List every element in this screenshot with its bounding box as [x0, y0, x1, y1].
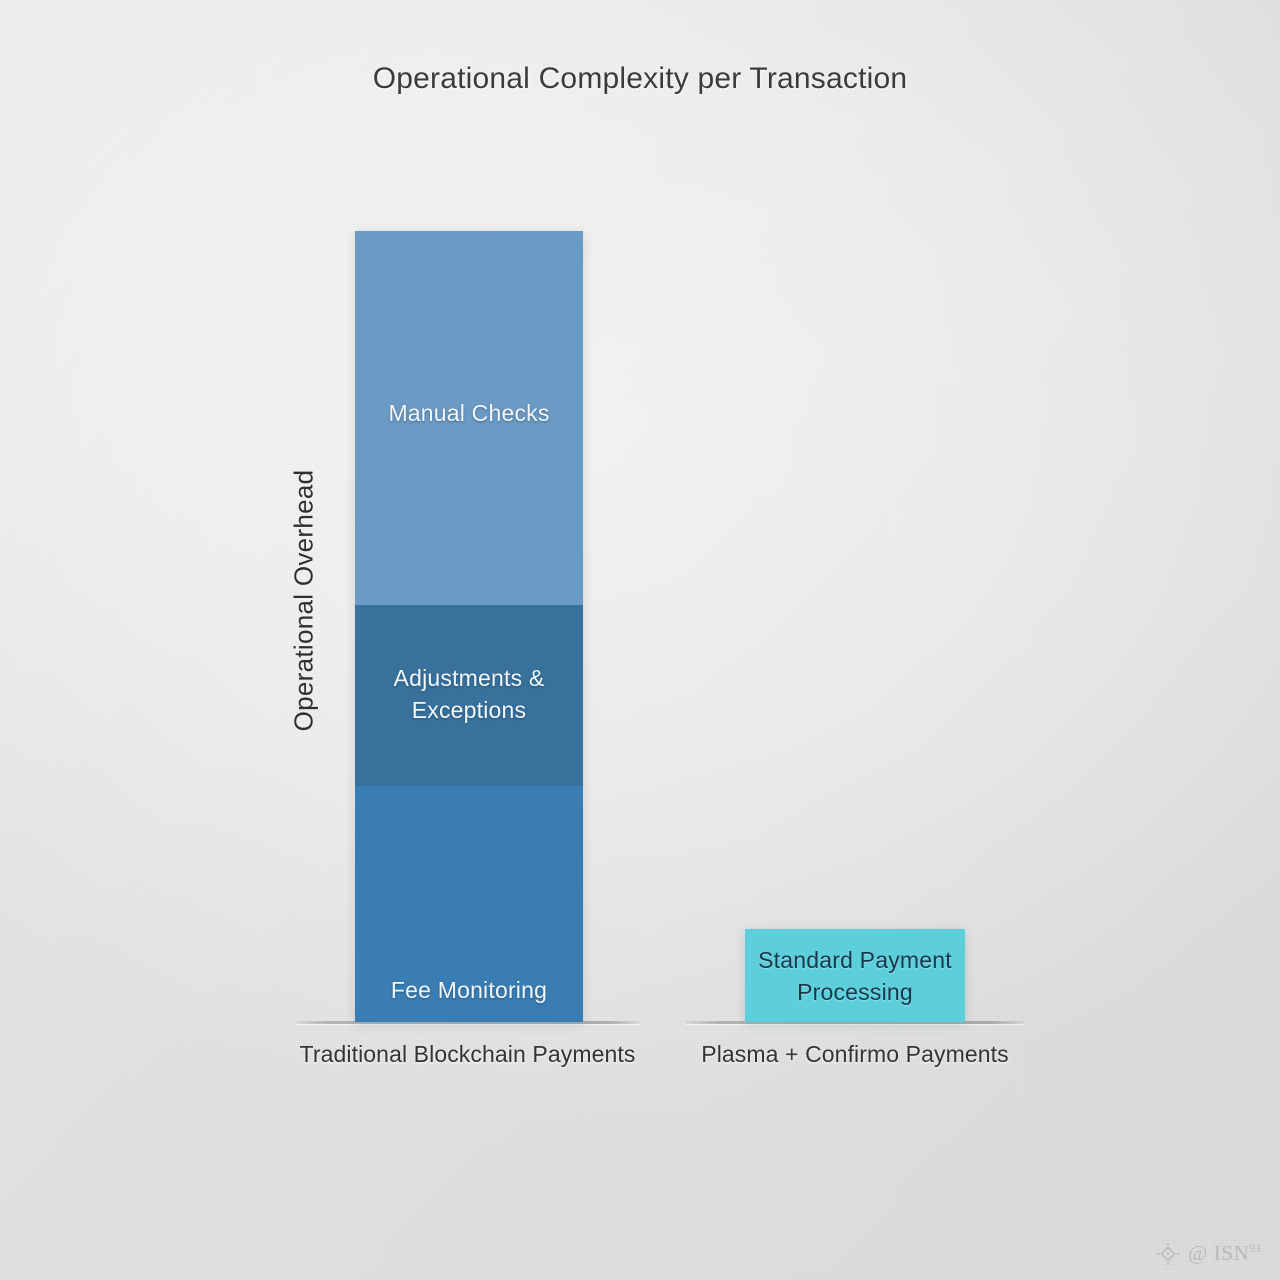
diamond-compass-icon	[1156, 1242, 1180, 1266]
bar-segment-label-fee-monitoring: Fee Monitoring	[383, 975, 555, 1006]
watermark: @ ISN91	[1156, 1241, 1262, 1266]
x-axis-tick-label-traditional-blockchain-payments: Traditional Blockchain Payments	[295, 1041, 640, 1068]
watermark-text: @ ISN91	[1188, 1241, 1262, 1266]
bar-segment-label-line-1: Adjustments &	[394, 663, 545, 694]
bar-plasma-confirmo-payments[interactable]: Standard Payment Processing	[745, 929, 965, 1022]
bar-segment-label-manual-checks: Manual Checks	[380, 398, 557, 429]
bar-segment-manual-checks[interactable]: Manual Checks	[355, 231, 583, 605]
watermark-handle: @ ISN	[1188, 1241, 1249, 1265]
bar-segment-standard-payment-processing[interactable]: Standard Payment Processing	[745, 929, 965, 1022]
bar-segment-adjustments-exceptions[interactable]: Adjustments & Exceptions	[355, 605, 583, 786]
plot-area: Manual Checks Adjustments & Exceptions F…	[0, 0, 1280, 1280]
bar-segment-label-line-2: Processing	[758, 977, 952, 1008]
bar-segment-fee-monitoring[interactable]: Fee Monitoring	[355, 786, 583, 1022]
bar-traditional-blockchain-payments[interactable]: Manual Checks Adjustments & Exceptions F…	[355, 231, 583, 1022]
bar-segment-label-standard-payment-processing: Standard Payment Processing	[750, 945, 960, 1008]
bar-segment-label-line-2: Exceptions	[394, 695, 545, 726]
x-axis-tick-label-plasma-confirmo-payments: Plasma + Confirmo Payments	[685, 1041, 1025, 1068]
chart-canvas: Operational Complexity per Transaction O…	[0, 0, 1280, 1280]
bar-segment-label-line-1: Standard Payment	[758, 945, 952, 976]
bar-segment-label-adjustments-exceptions: Adjustments & Exceptions	[386, 663, 553, 726]
watermark-suffix: 91	[1249, 1241, 1262, 1255]
